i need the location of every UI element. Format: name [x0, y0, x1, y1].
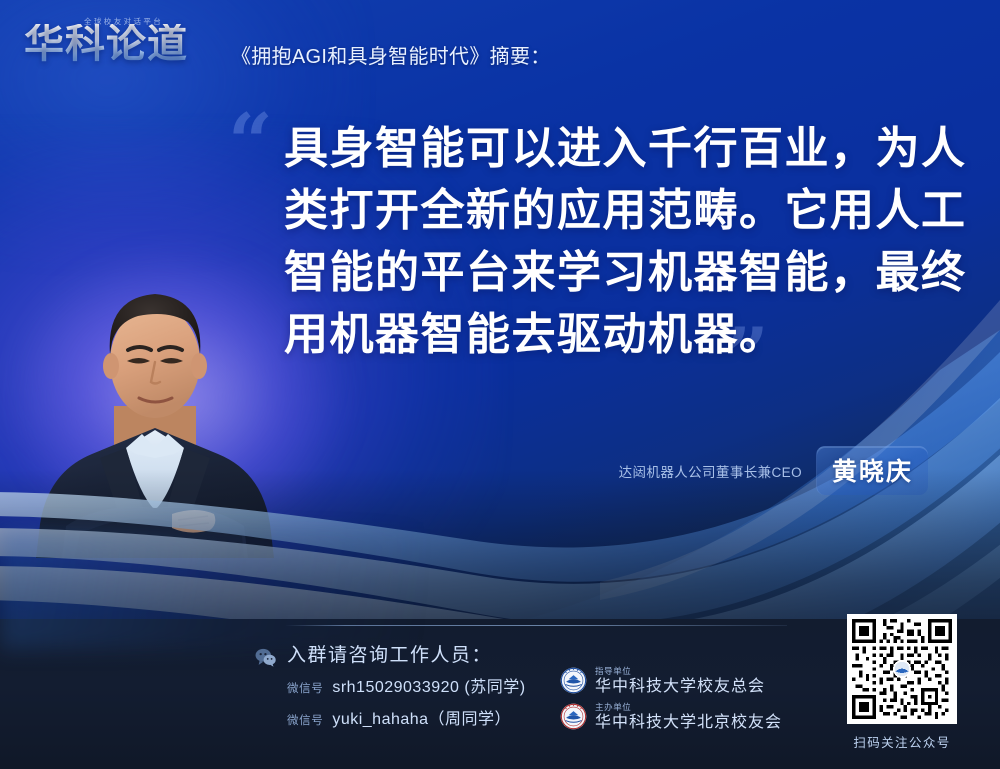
quote-line: 类打开全新的应用范畴。它用人工: [284, 180, 952, 242]
qr-code-image[interactable]: [847, 614, 957, 724]
qr-caption: 扫码关注公众号: [853, 732, 950, 751]
university-seal-icon: [560, 703, 587, 730]
logo-wordmark: 华科论道: [24, 24, 188, 64]
quote-line: 智能的平台来学习机器智能，最终: [284, 242, 952, 304]
brand-logo[interactable]: 全球校友对话平台 华科论道: [24, 18, 217, 74]
open-quote-mark: “: [228, 104, 273, 182]
organization-name: 华中科技大学北京校友会: [595, 715, 782, 731]
contact-label: 微信号: [287, 712, 323, 728]
contact-label: 微信号: [287, 680, 323, 696]
quote-text: 具身智能可以进入千行百业，为人 类打开全新的应用范畴。它用人工 智能的平台来学习…: [284, 118, 952, 366]
speaker-attribution: 达闼机器人公司董事长兼CEO 黄晓庆: [619, 446, 928, 495]
quote-line: 用机器智能去驱动机器。: [284, 304, 952, 366]
organization-row: 指导单位 华中科技大学校友总会: [560, 667, 765, 695]
contact-value[interactable]: yuki_hahaha（周同学）: [332, 705, 511, 729]
quote-line: 具身智能可以进入千行百业，为人: [284, 118, 952, 180]
organization-name: 华中科技大学校友总会: [595, 679, 765, 695]
header: 全球校友对话平台 华科论道 《拥抱AGI和具身智能时代》摘要：: [24, 18, 551, 74]
footer-divider: [285, 625, 787, 626]
university-seal-icon: [560, 667, 587, 694]
contact-row: 微信号 yuki_hahaha（周同学）: [287, 705, 511, 729]
speaker-name-badge: 黄晓庆: [816, 446, 928, 495]
contact-row: 微信号 srh15029033920 (苏同学): [287, 673, 526, 697]
contact-value[interactable]: srh15029033920 (苏同学): [332, 673, 525, 697]
speaker-role: 达闼机器人公司董事长兼CEO: [619, 461, 802, 481]
speaker-name: 黄晓庆: [832, 457, 913, 486]
wechat-icon: [255, 647, 277, 667]
poster-canvas: 全球校友对话平台 华科论道 《拥抱AGI和具身智能时代》摘要： “ ” 具身智能…: [0, 0, 1000, 769]
footer-heading: 入群请咨询工作人员：: [287, 640, 492, 667]
qr-code-block: 扫码关注公众号: [841, 614, 963, 751]
organization-kicker: 指导单位: [595, 667, 765, 676]
page-title: 《拥抱AGI和具身智能时代》摘要：: [231, 40, 551, 74]
organization-kicker: 主办单位: [595, 703, 782, 712]
organization-row: 主办单位 华中科技大学北京校友会: [560, 703, 782, 731]
